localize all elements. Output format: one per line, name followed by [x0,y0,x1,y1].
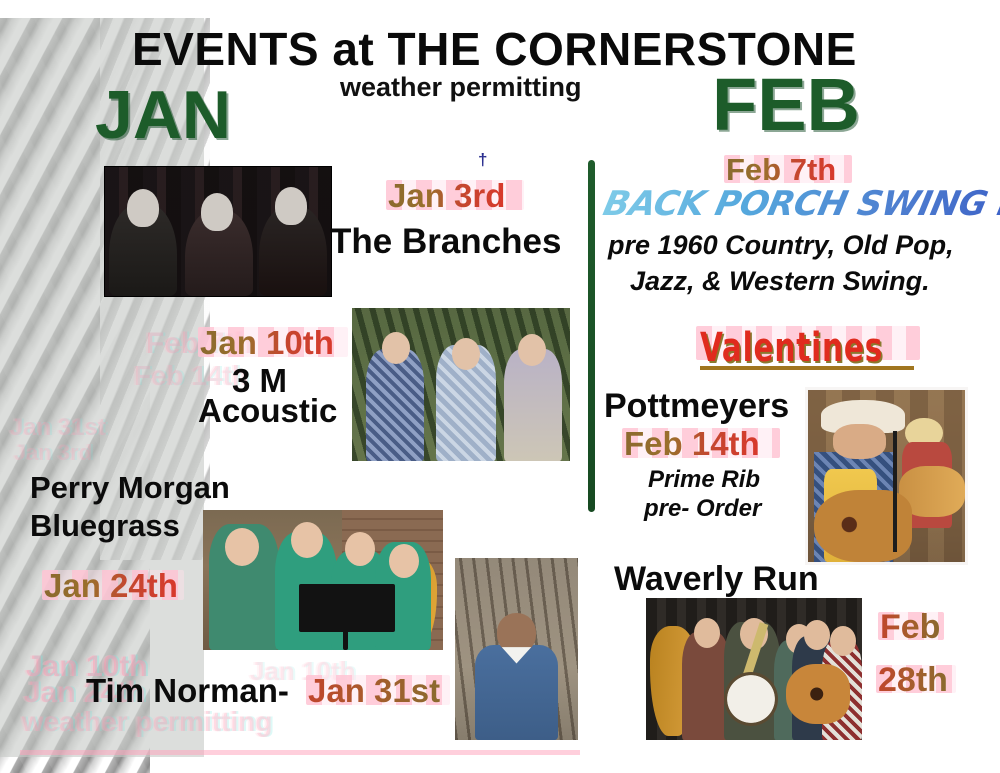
valentines-banner: Valentines [700,325,883,371]
month-heading-january: JAN [95,76,231,154]
event-date-feb28-line2: 28th [878,661,948,700]
event-description-line1: pre 1960 Country, Old Pop, [608,230,954,261]
column-divider [588,160,595,512]
pottmeyers-photo [808,390,965,562]
perry-morgan-photo [203,510,443,650]
event-date-jan24: Jan 24th [44,567,178,605]
event-note-line1: Prime Rib [648,466,760,494]
the-branches-photo [105,167,331,296]
subtitle: weather permitting [340,72,582,103]
valentines-underline [700,366,914,370]
tim-norman-photo [455,558,578,740]
month-heading-february: FEB [712,62,860,147]
event-name-tim-norman: Tim Norman- [86,672,289,710]
event-name-pottmeyers: Pottmeyers [604,387,789,426]
event-name-back-porch-swing-band: BACK PORCH SWING BAND [600,184,1000,224]
event-description-line2: Jazz, & Western Swing. [630,266,930,297]
top-white-margin [0,0,1000,18]
3m-acoustic-photo [352,308,570,461]
cross-icon: † [478,150,487,170]
event-date-jan31: Jan 31st [308,672,440,710]
event-date-feb7: Feb 7th [726,152,836,188]
event-name-perry-line2: Bluegrass [30,508,180,544]
event-date-feb28-line1: Feb [880,608,940,647]
event-poster: Jan 10th Jan 24th weather permitting Feb… [0,0,1000,773]
event-date-jan10: Jan 10th [200,324,334,362]
event-date-jan3: Jan 3rd [388,177,505,215]
event-name-3m-line2: Acoustic [198,392,337,430]
event-name-waverly-run: Waverly Run [614,560,819,599]
waverly-run-photo [646,598,862,740]
event-name-the-branches: The Branches [330,222,561,262]
event-name-perry-line1: Perry Morgan [30,470,230,506]
event-note-line2: pre- Order [644,495,761,523]
event-date-feb14: Feb 14th [624,425,760,463]
